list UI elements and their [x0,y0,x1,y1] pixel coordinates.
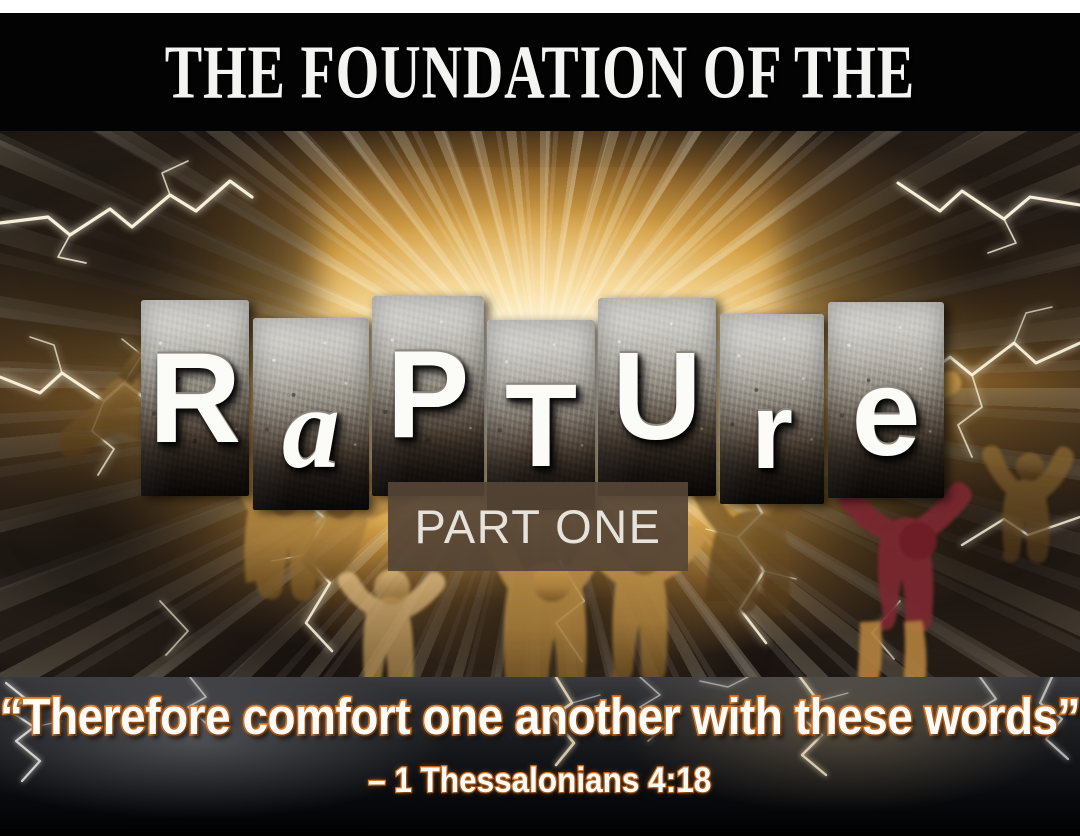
letter-glyph: e [828,350,944,474]
scripture-panel: “Therefore comfort one another with thes… [0,677,1080,836]
verse-text-wrap: “Therefore comfort one another with thes… [0,677,1080,836]
page-title: THE FOUNDATION OF THE [165,34,915,110]
slide-root: THE FOUNDATION OF THE [0,0,1080,836]
letter-block: R [141,300,249,496]
letter-glyph: a [253,370,369,486]
title-band: THE FOUNDATION OF THE [0,13,1080,131]
bottom-strip [0,829,1080,836]
letter-block: e [828,302,944,498]
part-label-text: PART ONE [414,499,661,554]
part-label-band: PART ONE [388,482,688,571]
letter-glyph: U [598,334,716,458]
letter-glyph: r [720,376,824,484]
letter-block: r [720,314,824,504]
letter-block: U [598,298,716,496]
letter-block: P [372,296,484,496]
letter-glyph: P [372,332,484,456]
rapture-letterpress-word: R a P T U r e [141,296,987,501]
letter-block: a [253,318,369,510]
letter-glyph: R [141,334,249,462]
storm-cloud [120,571,420,677]
hero-scene: R a P T U r e PART ONE [0,131,1080,677]
letter-glyph: T [487,366,595,484]
verse-attribution: – 1 Thessalonians 4:18 [368,760,711,802]
verse-quote: “Therefore comfort one another with thes… [0,689,1080,744]
